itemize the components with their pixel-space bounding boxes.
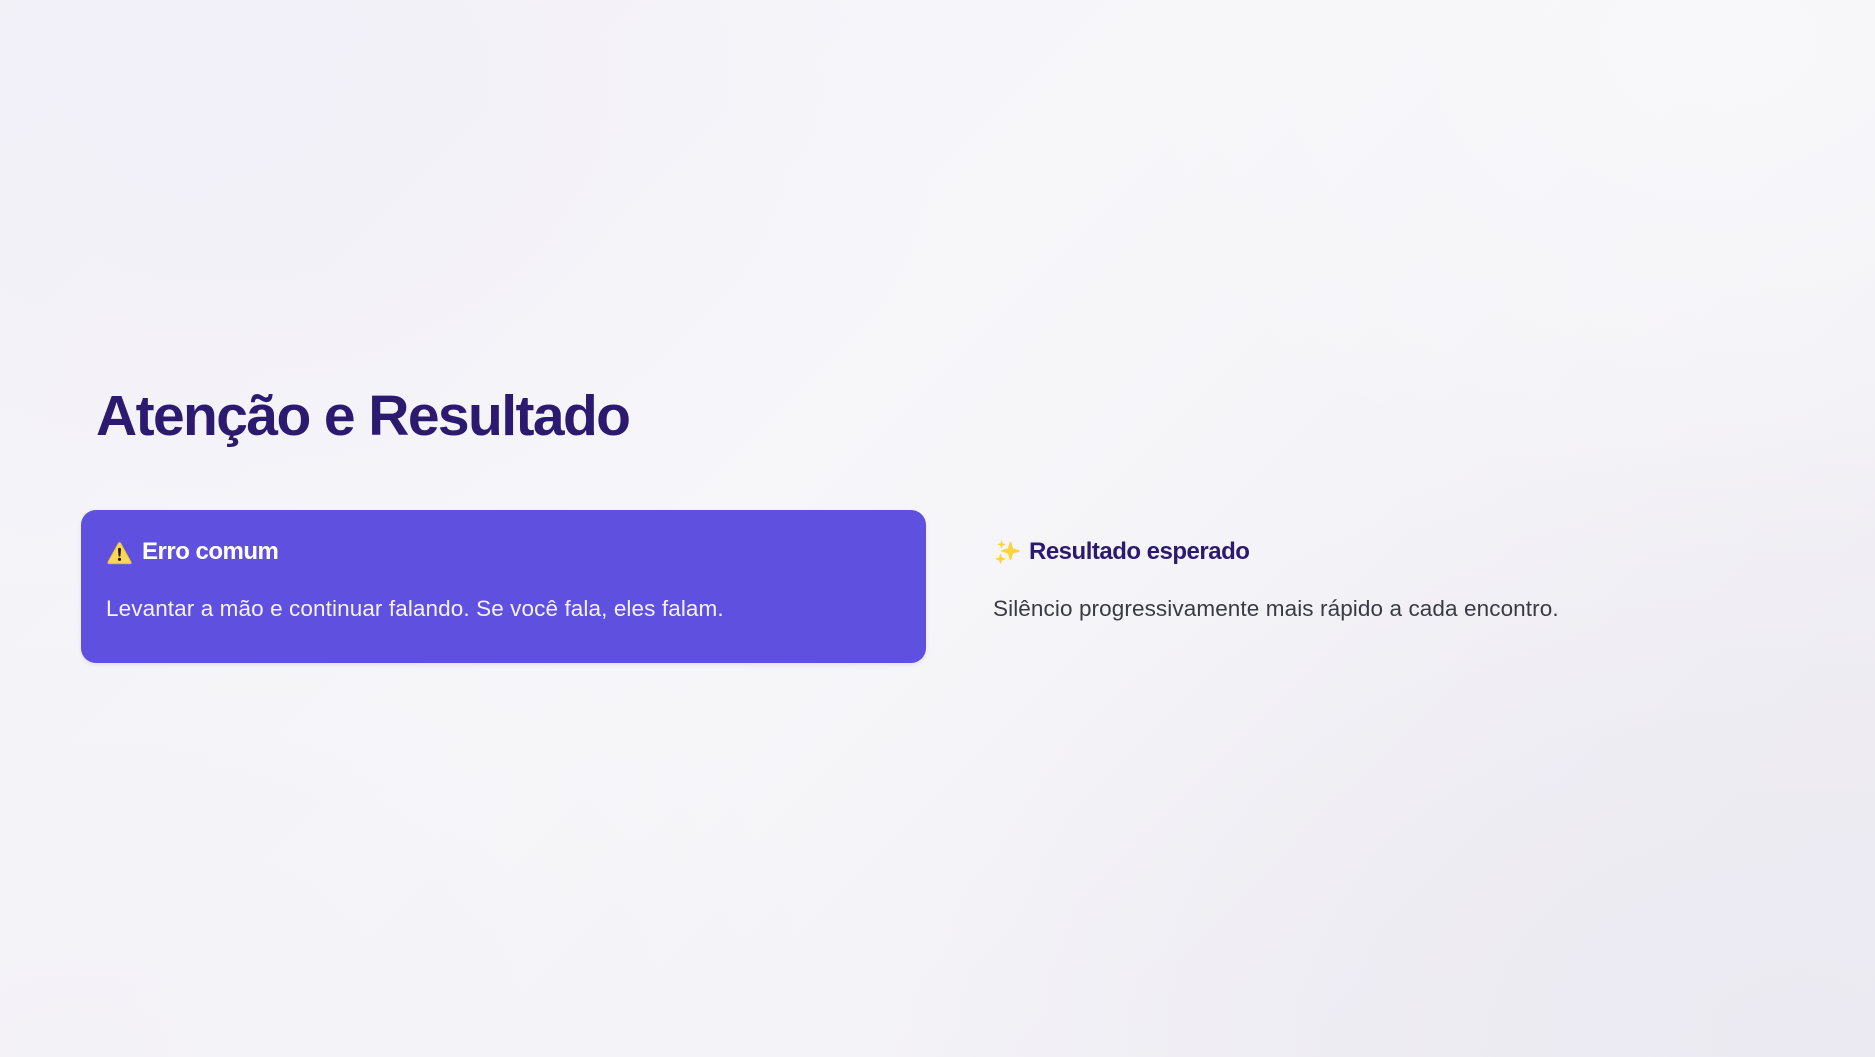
warning-icon — [106, 539, 133, 566]
page-title: Atenção e Resultado — [96, 386, 629, 448]
card-resultado-esperado-heading-text: Resultado esperado — [1029, 538, 1249, 567]
card-erro-comum: Erro comum Levantar a mão e continuar fa… — [81, 510, 926, 663]
card-erro-comum-heading-text: Erro comum — [142, 538, 278, 567]
card-erro-comum-body: Levantar a mão e continuar falando. Se v… — [106, 593, 901, 624]
sparkles-icon — [993, 539, 1020, 566]
card-resultado-esperado: Resultado esperado Silêncio progressivam… — [968, 510, 1813, 663]
card-erro-comum-heading: Erro comum — [106, 538, 901, 567]
comparison-columns: Erro comum Levantar a mão e continuar fa… — [81, 510, 1791, 663]
column-erro-comum: Erro comum Levantar a mão e continuar fa… — [81, 510, 926, 663]
column-resultado-esperado: Resultado esperado Silêncio progressivam… — [968, 510, 1813, 663]
slide-canvas: Atenção e Resultado Erro comum Lev — [0, 0, 1875, 1057]
card-resultado-esperado-heading: Resultado esperado — [993, 538, 1788, 567]
card-resultado-esperado-body: Silêncio progressivamente mais rápido a … — [993, 593, 1788, 624]
